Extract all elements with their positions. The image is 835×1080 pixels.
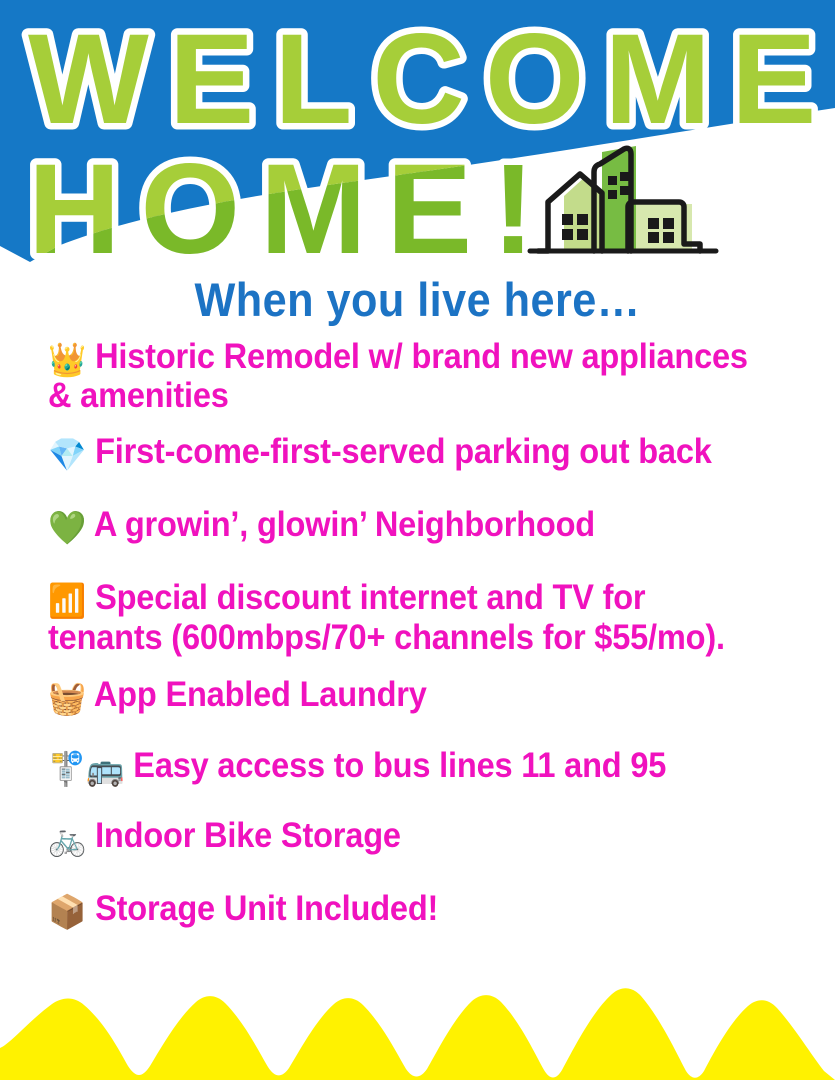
list-item: 👑 Historic Remodel w/ brand new applianc…	[48, 338, 764, 415]
list-item: 💎 First-come-first-served parking out ba…	[48, 433, 764, 472]
list-item-label: First-come-first-served parking out back	[86, 432, 711, 471]
list-item-label: Indoor Bike Storage	[86, 816, 401, 855]
amenities-list: 👑 Historic Remodel w/ brand new applianc…	[48, 338, 818, 929]
crown-icon: 👑	[48, 340, 86, 379]
list-item: 🚏🚌 Easy access to bus lines 11 and 95	[48, 747, 764, 786]
apartment-buildings-logo	[524, 138, 724, 258]
list-item-label: App Enabled Laundry	[86, 675, 426, 714]
package-icon: 📦	[48, 892, 86, 931]
list-item: 📦 Storage Unit Included!	[48, 890, 764, 929]
bus-stop-icon: 🚏🚌	[48, 749, 124, 788]
welcome-home-flyer: WELCOME WELCOME HOME! HOME! HOME!	[0, 0, 835, 1080]
yellow-peaks-decoration	[0, 970, 835, 1080]
list-item-label: Easy access to bus lines 11 and 95	[124, 746, 666, 785]
list-item-label: Historic Remodel w/ brand new appliances…	[48, 337, 748, 415]
list-item: 🧺 App Enabled Laundry	[48, 676, 764, 715]
list-item-label: A growin’, glowin’ Neighborhood	[86, 505, 595, 544]
subtitle: When you live here…	[33, 272, 801, 327]
list-item: 📶 Special discount internet and TV for t…	[48, 579, 764, 656]
wifi-icon: 📶	[48, 581, 86, 620]
basket-icon: 🧺	[48, 678, 86, 717]
gem-icon: 💎	[48, 435, 86, 474]
bicycle-icon: 🚲	[48, 819, 86, 858]
list-item: 🚲 Indoor Bike Storage	[48, 817, 764, 856]
list-item-label: Storage Unit Included!	[86, 889, 438, 928]
list-item: 💚 A growin’, glowin’ Neighborhood	[48, 506, 764, 545]
list-item-label: Special discount internet and TV for ten…	[48, 578, 725, 656]
green-heart-icon: 💚	[48, 508, 86, 547]
